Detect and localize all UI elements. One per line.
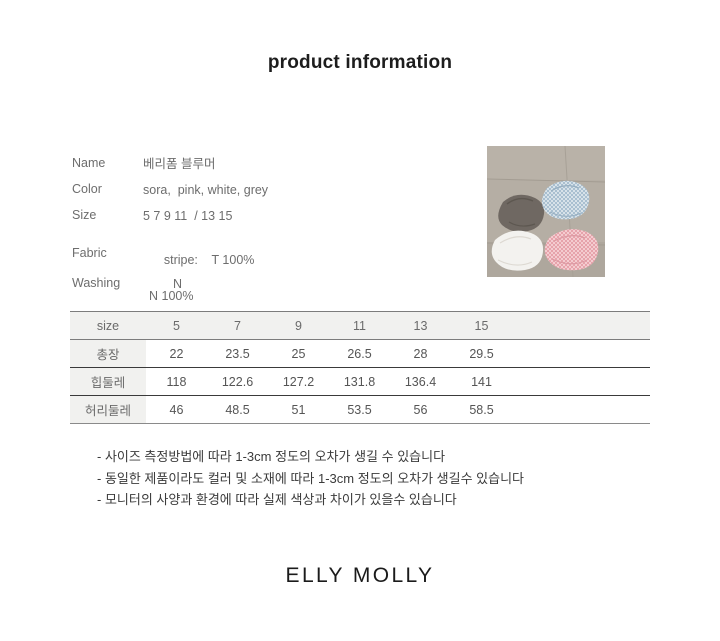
- sora-gingham-bloomer: [542, 181, 589, 220]
- size-table-cell: 122.6: [207, 368, 268, 396]
- spec-label-size: Size: [72, 207, 143, 224]
- size-table-cell: 58.5: [451, 396, 512, 424]
- spec-row-fabric: Fabric stripe: T 100% N 100%: [72, 233, 402, 275]
- spec-label-washing: Washing: [72, 275, 143, 292]
- size-table-row-spacer: [512, 396, 650, 424]
- size-table-header-spacer: [512, 312, 650, 340]
- size-table-cell: 51: [268, 396, 329, 424]
- size-table: size 5 7 9 11 13 15 총장 22 23.5 25 26.5 2…: [70, 311, 650, 424]
- spec-row-color: Color sora, pink, white, grey: [72, 181, 402, 207]
- spec-row-name: Name 베리폼 블루머: [72, 155, 402, 181]
- size-table-header-cell: size: [70, 312, 146, 340]
- table-row: 허리둘레 46 48.5 51 53.5 56 58.5: [70, 396, 650, 424]
- product-photo: [487, 146, 605, 277]
- size-table-row-spacer: [512, 340, 650, 368]
- spec-value-size: 5 7 9 11 / 13 15: [143, 207, 232, 225]
- product-spec-list: Name 베리폼 블루머 Color sora, pink, white, gr…: [72, 155, 402, 301]
- size-table-cell: 28: [390, 340, 451, 368]
- spec-row-size: Size 5 7 9 11 / 13 15: [72, 207, 402, 233]
- size-table-header-cell: 9: [268, 312, 329, 340]
- size-table-row-label: 힙둘레: [70, 368, 146, 396]
- size-table-cell: 53.5: [329, 396, 390, 424]
- disclaimer-notes: - 사이즈 측정방법에 따라 1-3cm 정도의 오차가 생길 수 있습니다 -…: [97, 446, 524, 511]
- grey-bloomer: [498, 195, 544, 232]
- brand-logo-text: ELLY MOLLY: [0, 564, 720, 588]
- table-row: 힙둘레 118 122.6 127.2 131.8 136.4 141: [70, 368, 650, 396]
- spec-value-name: 베리폼 블루머: [143, 155, 215, 173]
- size-table-cell: 26.5: [329, 340, 390, 368]
- size-table-header-cell: 5: [146, 312, 207, 340]
- note-line: - 사이즈 측정방법에 따라 1-3cm 정도의 오차가 생길 수 있습니다: [97, 446, 524, 468]
- size-table-cell: 56: [390, 396, 451, 424]
- size-table-cell: 131.8: [329, 368, 390, 396]
- size-table-header-cell: 11: [329, 312, 390, 340]
- size-table-container: size 5 7 9 11 13 15 총장 22 23.5 25 26.5 2…: [70, 311, 650, 424]
- size-table-cell: 136.4: [390, 368, 451, 396]
- size-table-cell: 29.5: [451, 340, 512, 368]
- size-table-cell: 48.5: [207, 396, 268, 424]
- size-table-cell: 141: [451, 368, 512, 396]
- size-table-header-cell: 7: [207, 312, 268, 340]
- spec-label-name: Name: [72, 155, 143, 172]
- note-line: - 모니터의 사양과 환경에 따라 실제 색상과 차이가 있을수 있습니다: [97, 489, 524, 511]
- size-table-cell: 22: [146, 340, 207, 368]
- size-table-cell: 25: [268, 340, 329, 368]
- spec-value-color: sora, pink, white, grey: [143, 181, 268, 199]
- table-row: 총장 22 23.5 25 26.5 28 29.5: [70, 340, 650, 368]
- spec-value-washing: N: [143, 275, 182, 293]
- white-bloomer: [492, 231, 543, 271]
- size-table-row-label: 허리둘레: [70, 396, 146, 424]
- note-line: - 동일한 제품이라도 컬러 및 소재에 따라 1-3cm 정도의 오차가 생길…: [97, 468, 524, 490]
- spec-label-color: Color: [72, 181, 143, 198]
- spec-value-fabric-line1: stripe: T 100%: [164, 253, 255, 267]
- size-table-header-row: size 5 7 9 11 13 15: [70, 312, 650, 340]
- page-title: product information: [0, 52, 720, 74]
- size-table-cell: 118: [146, 368, 207, 396]
- size-table-cell: 127.2: [268, 368, 329, 396]
- size-table-header-cell: 13: [390, 312, 451, 340]
- size-table-cell: 23.5: [207, 340, 268, 368]
- spec-label-fabric: Fabric: [72, 233, 143, 262]
- size-table-cell: 46: [146, 396, 207, 424]
- size-table-row-label: 총장: [70, 340, 146, 368]
- size-table-row-spacer: [512, 368, 650, 396]
- size-table-header-cell: 15: [451, 312, 512, 340]
